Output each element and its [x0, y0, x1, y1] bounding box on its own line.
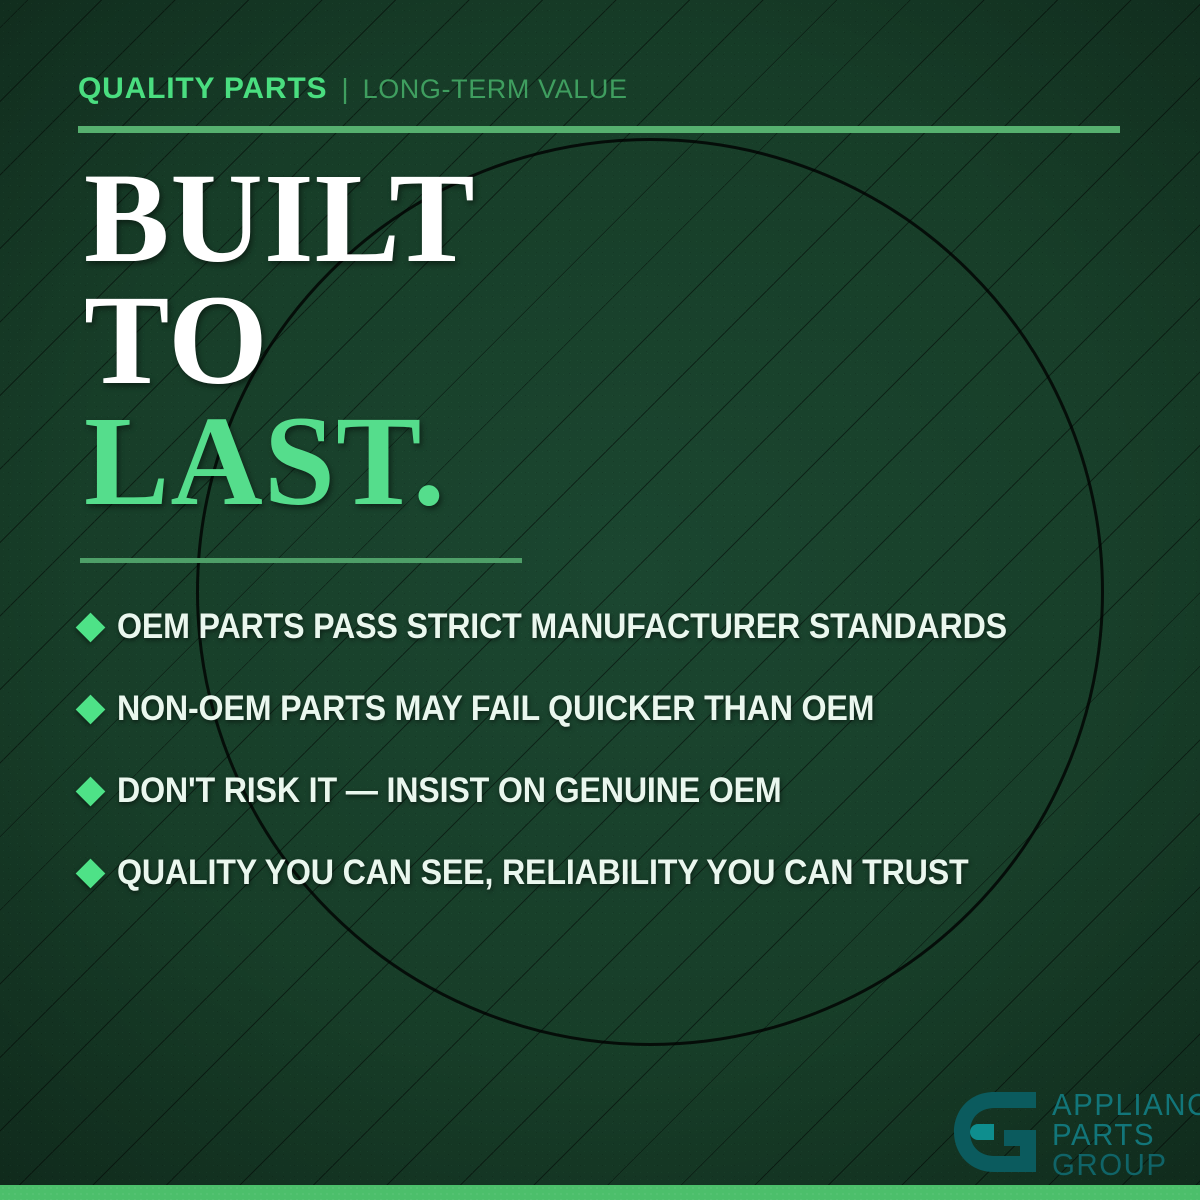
headline-divider-rule	[80, 558, 522, 563]
list-item-label: DON'T RISK IT — INSIST ON GENUINE OEM	[117, 771, 782, 811]
diamond-bullet-icon	[76, 612, 106, 642]
bottom-accent-bar	[0, 1185, 1200, 1200]
logo-word-2: PARTS	[1052, 1120, 1200, 1150]
diamond-bullet-icon	[76, 858, 106, 888]
brand-logo-wordmark: APPLIANCE PARTS GROUP	[1052, 1086, 1200, 1180]
headline-line-2: TO	[84, 280, 476, 402]
list-item: OEM PARTS PASS STRICT MANUFACTURER STAND…	[80, 586, 1160, 668]
logo-word-3: GROUP	[1052, 1150, 1200, 1180]
kicker-header: QUALITY PARTS | LONG-TERM VALUE	[78, 72, 628, 106]
page-title: BUILT TO LAST.	[84, 158, 476, 523]
poster-content: QUALITY PARTS | LONG-TERM VALUE BUILT TO…	[0, 0, 1200, 1200]
list-item-label: NON-OEM PARTS MAY FAIL QUICKER THAN OEM	[117, 689, 874, 729]
list-item-label: QUALITY YOU CAN SEE, RELIABILITY YOU CAN…	[117, 853, 968, 893]
benefits-list: OEM PARTS PASS STRICT MANUFACTURER STAND…	[80, 586, 1160, 914]
logo-word-1: APPLIANCE	[1052, 1090, 1200, 1120]
list-item: DON'T RISK IT — INSIST ON GENUINE OEM	[80, 750, 1160, 832]
g-logomark-icon	[948, 1086, 1040, 1178]
kicker-main-label: QUALITY PARTS	[78, 72, 327, 106]
diamond-bullet-icon	[76, 776, 106, 806]
poster-canvas: QUALITY PARTS | LONG-TERM VALUE BUILT TO…	[0, 0, 1200, 1200]
bottom-bar-texture	[0, 1185, 1200, 1200]
kicker-separator: |	[341, 73, 348, 105]
header-divider-rule	[78, 126, 1120, 133]
kicker-sub-label: LONG-TERM VALUE	[363, 74, 628, 105]
list-item-label: OEM PARTS PASS STRICT MANUFACTURER STAND…	[117, 607, 1007, 647]
diamond-bullet-icon	[76, 694, 106, 724]
list-item: NON-OEM PARTS MAY FAIL QUICKER THAN OEM	[80, 668, 1160, 750]
headline-line-1: BUILT	[84, 158, 476, 280]
brand-logo: APPLIANCE PARTS GROUP	[948, 1086, 1200, 1180]
headline-line-3: LAST.	[84, 401, 476, 523]
list-item: QUALITY YOU CAN SEE, RELIABILITY YOU CAN…	[80, 832, 1160, 914]
